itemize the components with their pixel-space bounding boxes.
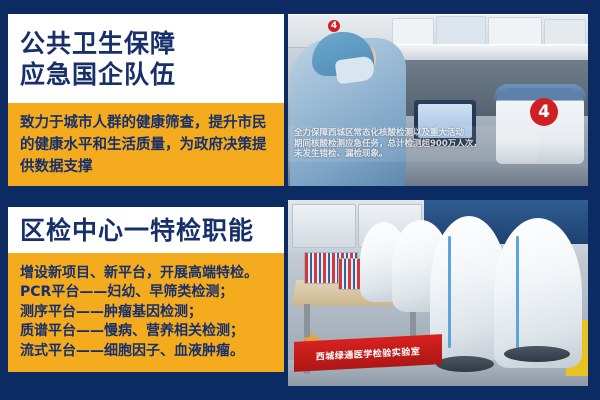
shelf-number-marker: 4 (328, 20, 340, 32)
caption-line-2: 期间核酸检测应急任务，总计检测超900万人次， (294, 139, 532, 150)
lab-photo-bottom: ★ 西城绿通医学检验实验室 (288, 200, 588, 386)
bottom-card-body-line-2: PCR平台——妇幼、早筛类检测； (20, 283, 276, 303)
supply-box (392, 18, 434, 46)
lab-stool (436, 356, 494, 372)
instrument-number-marker: 4 (530, 98, 558, 126)
supply-box (488, 17, 542, 46)
bottom-card-title-line-1: 区检中心一特检职能 (20, 215, 284, 246)
caption-line-3: 未发生错检、漏检现象。 (294, 149, 532, 160)
top-card-body-box: 致力于城市人群的健康筛查，提升市民的健康水平和生活质量，为政府决策提供数据支撑 (8, 103, 284, 186)
bottom-card-body-line-4: 质谱平台——慢病、营养相关检测； (20, 322, 276, 342)
bottom-card-title-box: 区检中心一特检职能 (8, 207, 284, 253)
bottom-card-body-line-5: 流式平台——细胞因子、血液肿瘤。 (20, 342, 276, 362)
lab-stool (504, 346, 570, 362)
top-photo-caption: 全力保障西城区常态化核酸检测以及重大活动 期间核酸检测应急任务，总计检测超900… (288, 126, 538, 162)
ppe-suit-seam (448, 236, 451, 348)
top-card-body-text: 致力于城市人群的健康筛查，提升市民的健康水平和生活质量，为政府决策提供数据支撑 (20, 112, 274, 178)
bottom-card-body-line-1: 增设新项目、新平台，开展高端特检。 (20, 264, 276, 284)
supply-box (544, 19, 586, 46)
cabinet-unit (292, 204, 356, 248)
lab-name-banner-text: 西城绿通医学检验实验室 (316, 344, 421, 362)
poster-canvas: 公共卫生保障 应急国企队伍 致力于城市人群的健康筛查，提升市民的健康水平和生活质… (0, 0, 600, 400)
bottom-card-body-box: 增设新项目、新平台，开展高端特检。 PCR平台——妇幼、早筛类检测； 测序平台—… (8, 253, 284, 372)
lab-photo-top: 4 4 全力保障西城区常态化核酸检测以及重大活动 期间核酸检测应急任务，总计检测… (288, 14, 588, 186)
caption-line-1: 全力保障西城区常态化核酸检测以及重大活动 (294, 128, 532, 139)
top-card-title-line-1: 公共卫生保障 (20, 28, 284, 59)
top-card-title-box: 公共卫生保障 应急国企队伍 (8, 14, 284, 103)
supply-box (436, 16, 486, 46)
ppe-suit-seam (516, 236, 519, 354)
bottom-card-body-line-3: 测序平台——肿瘤基因检测； (20, 303, 276, 323)
top-card-title-line-2: 应急国企队伍 (20, 59, 284, 90)
